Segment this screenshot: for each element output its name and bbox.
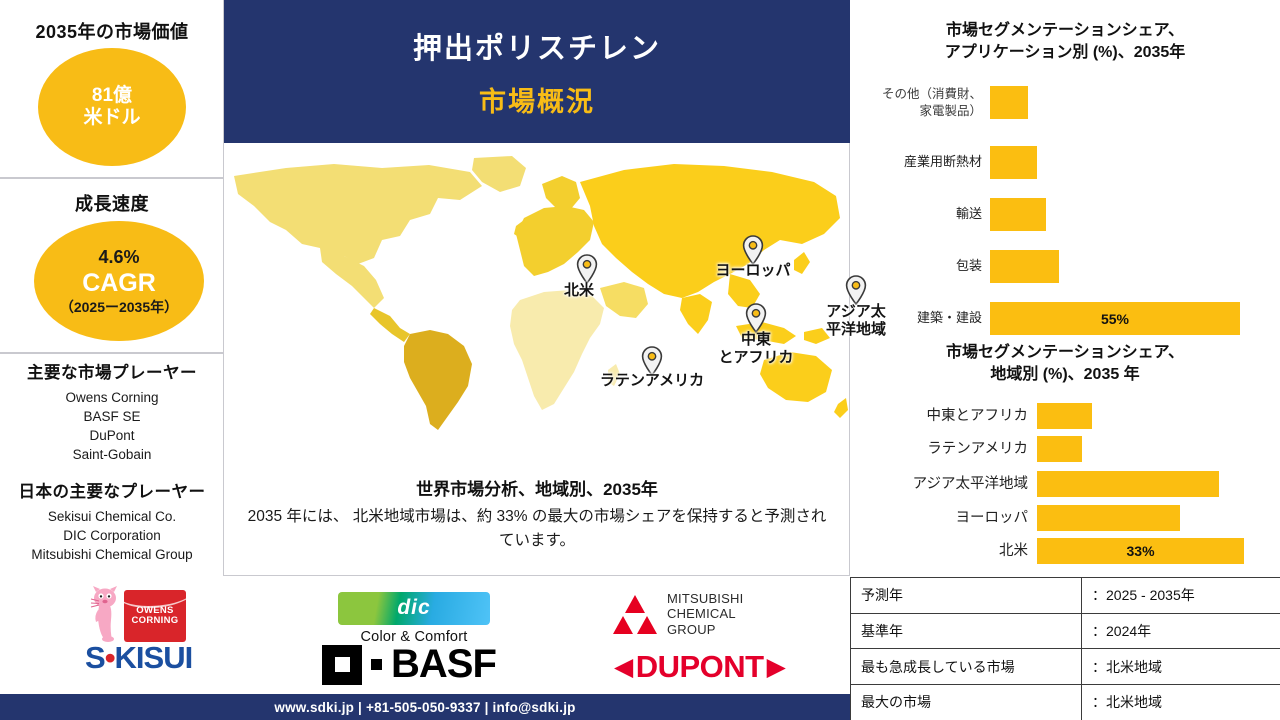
growth-rate: 4.6% xyxy=(98,247,139,268)
footer-bar: www.sdki.jp | +81-505-050-9337 | info@sd… xyxy=(0,694,850,720)
infographic-page: 2035年の市場価値 81億 米ドル 成長速度 4.6% CAGR （2025ー… xyxy=(0,0,1280,720)
owens-corning-box: OWENS CORNING xyxy=(124,590,186,642)
table-row: 最大の市場 ：北米地域 xyxy=(851,685,1280,720)
map-label-europe: ヨーロッパ xyxy=(692,262,814,280)
table-cell-key: 最大の市場 xyxy=(851,685,1082,720)
growth-title: 成長速度 xyxy=(0,190,224,216)
bar-value-building-construction: 55% xyxy=(990,311,1240,327)
dic-mark: dic xyxy=(338,592,490,625)
sidebar-market-value-block: 2035年の市場価値 xyxy=(0,18,224,44)
market-value-title: 2035年の市場価値 xyxy=(0,18,224,44)
mitsubishi-wordmark: MITSUBISHI CHEMICAL GROUP xyxy=(667,591,743,637)
bar-row-building-construction: 建築・建設 55% xyxy=(850,302,1280,335)
basf-square-icon xyxy=(322,645,362,685)
bar-row-other: その他（消費財、 家電製品） xyxy=(850,86,1280,119)
logo-basf: BASF xyxy=(322,642,496,687)
sidebar-growth-block: 成長速度 xyxy=(0,190,224,216)
growth-oval: 4.6% CAGR （2025ー2035年） xyxy=(34,221,204,341)
bar-transport xyxy=(990,198,1046,231)
sekisui-part1: S xyxy=(85,640,105,675)
map-label-middle-east-africa: 中東 とアフリカ xyxy=(690,331,822,367)
logo-dupont: ◀DUPONT▶ xyxy=(611,649,788,685)
bar-row-latin-america: ラテンアメリカ xyxy=(850,436,1280,462)
sidebar-key-players-block: 主要な市場プレーヤー Owens Corning BASF SE DuPont … xyxy=(0,359,224,465)
mitsubishi-line3: GROUP xyxy=(667,622,743,637)
logo-owens-corning: OWENS CORNING xyxy=(88,586,186,642)
table-cell-key: 予測年 xyxy=(851,578,1082,614)
key-player-item: DuPont xyxy=(0,426,224,445)
bar-label-europe: ヨーロッパ xyxy=(850,509,1037,528)
mitsubishi-line2: CHEMICAL xyxy=(667,606,743,621)
growth-period: （2025ー2035年） xyxy=(60,299,178,315)
pink-panther-icon xyxy=(88,586,122,642)
bar-label-north-america: 北米 xyxy=(850,542,1037,561)
market-value-line2: 米ドル xyxy=(83,107,140,129)
table-row: 予測年 ：2025 - 2035年 xyxy=(851,578,1280,614)
bar-label-building-construction: 建築・建設 xyxy=(850,310,990,327)
bar-label-packaging: 包装 xyxy=(850,258,990,275)
bar-row-middle-east-africa: 中東とアフリカ xyxy=(850,403,1280,429)
map-landmasses xyxy=(234,156,848,430)
sekisui-part2: KISUI xyxy=(115,640,193,675)
world-map xyxy=(224,148,850,433)
table-cell-value: ：北米地域 xyxy=(1082,685,1280,720)
header-banner: 押出ポリスチレン 市場概況 xyxy=(224,0,850,143)
bar-europe xyxy=(1037,505,1180,531)
map-label-north-america: 北米 xyxy=(548,282,610,300)
table-row: 最も急成長している市場 ：北米地域 xyxy=(851,649,1280,685)
bar-north-america: 33% xyxy=(1037,538,1244,564)
bar-label-industrial-insulation: 産業用断熱材 xyxy=(850,154,990,171)
bar-row-packaging: 包装 xyxy=(850,250,1280,283)
sidebar: 2035年の市場価値 81億 米ドル 成長速度 4.6% CAGR （2025ー… xyxy=(0,0,224,576)
bar-row-industrial-insulation: 産業用断熱材 xyxy=(850,146,1280,179)
map-pin-middle-east-africa[interactable] xyxy=(745,303,767,333)
bar-industrial-insulation xyxy=(990,146,1037,179)
map-pin-europe[interactable] xyxy=(742,235,764,265)
dupont-right-caret-icon: ▶ xyxy=(767,652,786,682)
table-row: 基準年 ：2024年 xyxy=(851,613,1280,649)
bar-building-construction: 55% xyxy=(990,302,1240,335)
sekisui-dot: • xyxy=(105,640,115,675)
bar-row-asia-pacific: アジア太平洋地域 xyxy=(850,471,1280,497)
table-cell-value: ：北米地域 xyxy=(1082,649,1280,685)
market-value-line1: 81億 xyxy=(92,85,132,107)
bar-label-middle-east-africa: 中東とアフリカ xyxy=(850,407,1037,426)
japan-players-title: 日本の主要なプレーヤー xyxy=(0,478,224,502)
bar-value-north-america: 33% xyxy=(1037,543,1244,559)
basf-wordmark: BASF xyxy=(391,642,496,687)
logo-sekisui: S•KISUI xyxy=(85,640,192,676)
chart-region-title: 市場セグメンテーションシェア、 地域別 (%)、2035 年 xyxy=(860,342,1270,385)
bar-middle-east-africa xyxy=(1037,403,1092,429)
table-cell-value: ：2024年 xyxy=(1082,613,1280,649)
logo-mitsubishi-chemical: MITSUBISHI CHEMICAL GROUP xyxy=(612,591,743,637)
growth-cagr: CAGR xyxy=(82,269,156,298)
sidebar-divider-1 xyxy=(0,177,224,179)
header-title: 押出ポリスチレン xyxy=(413,25,661,67)
footer-contact-text: www.sdki.jp | +81-505-050-9337 | info@sd… xyxy=(274,700,575,715)
bar-label-asia-pacific: アジア太平洋地域 xyxy=(850,475,1037,494)
bar-latin-america xyxy=(1037,436,1082,462)
dupont-left-caret-icon: ◀ xyxy=(614,652,633,682)
bar-label-transport: 輸送 xyxy=(850,206,990,223)
logo-strip: OWENS CORNING S•KISUI dic Color & Comfor… xyxy=(0,577,850,694)
bar-label-latin-america: ラテンアメリカ xyxy=(850,440,1037,459)
bar-row-north-america: 北米 33% xyxy=(850,538,1280,564)
key-player-item: BASF SE xyxy=(0,407,224,426)
bar-asia-pacific xyxy=(1037,471,1219,497)
table-cell-value: ：2025 - 2035年 xyxy=(1082,578,1280,614)
mitsubishi-line1: MITSUBISHI xyxy=(667,591,743,606)
japan-player-item: Sekisui Chemical Co. xyxy=(0,507,224,526)
header-subtitle: 市場概況 xyxy=(479,80,595,119)
chart-application-title: 市場セグメンテーションシェア、 アプリケーション別 (%)、2035年 xyxy=(860,20,1270,63)
sidebar-divider-2 xyxy=(0,352,224,354)
basf-dot-icon xyxy=(371,659,382,670)
bar-packaging xyxy=(990,250,1059,283)
japan-player-item: DIC Corporation xyxy=(0,526,224,545)
owens-corning-line2: CORNING xyxy=(132,616,179,626)
info-table: 予測年 ：2025 - 2035年 基準年 ：2024年 最も急成長している市場… xyxy=(850,577,1280,720)
market-value-oval: 81億 米ドル xyxy=(38,48,186,166)
dupont-wordmark: DUPONT xyxy=(636,649,764,685)
mitsubishi-diamond-icon xyxy=(612,593,658,635)
japan-player-item: Mitsubishi Chemical Group xyxy=(0,545,224,564)
map-description: 2035 年には、 北米地域市場は、約 33% の最大の市場シェアを保持すると予… xyxy=(242,505,832,553)
bar-label-other: その他（消費財、 家電製品） xyxy=(850,86,990,119)
bar-row-transport: 輸送 xyxy=(850,198,1280,231)
key-player-item: Owens Corning xyxy=(0,388,224,407)
table-cell-key: 基準年 xyxy=(851,613,1082,649)
table-cell-key: 最も急成長している市場 xyxy=(851,649,1082,685)
key-player-item: Saint-Gobain xyxy=(0,445,224,464)
sidebar-japan-players-block: 日本の主要なプレーヤー Sekisui Chemical Co. DIC Cor… xyxy=(0,478,224,564)
map-panel: 北米 ヨーロッパ アジア太 平洋地域 中東 とアフリカ ラテンアメリカ 世界市場… xyxy=(224,143,850,576)
logo-dic: dic Color & Comfort xyxy=(338,592,490,645)
dic-mark-text: dic xyxy=(338,596,490,620)
bar-row-europe: ヨーロッパ xyxy=(850,505,1280,531)
bar-other xyxy=(990,86,1028,119)
key-players-title: 主要な市場プレーヤー xyxy=(0,359,224,383)
map-pin-north-america[interactable] xyxy=(576,254,598,284)
map-caption: 世界市場分析、地域別、2035年 xyxy=(224,475,850,500)
map-label-latin-america: ラテンアメリカ xyxy=(568,372,736,390)
